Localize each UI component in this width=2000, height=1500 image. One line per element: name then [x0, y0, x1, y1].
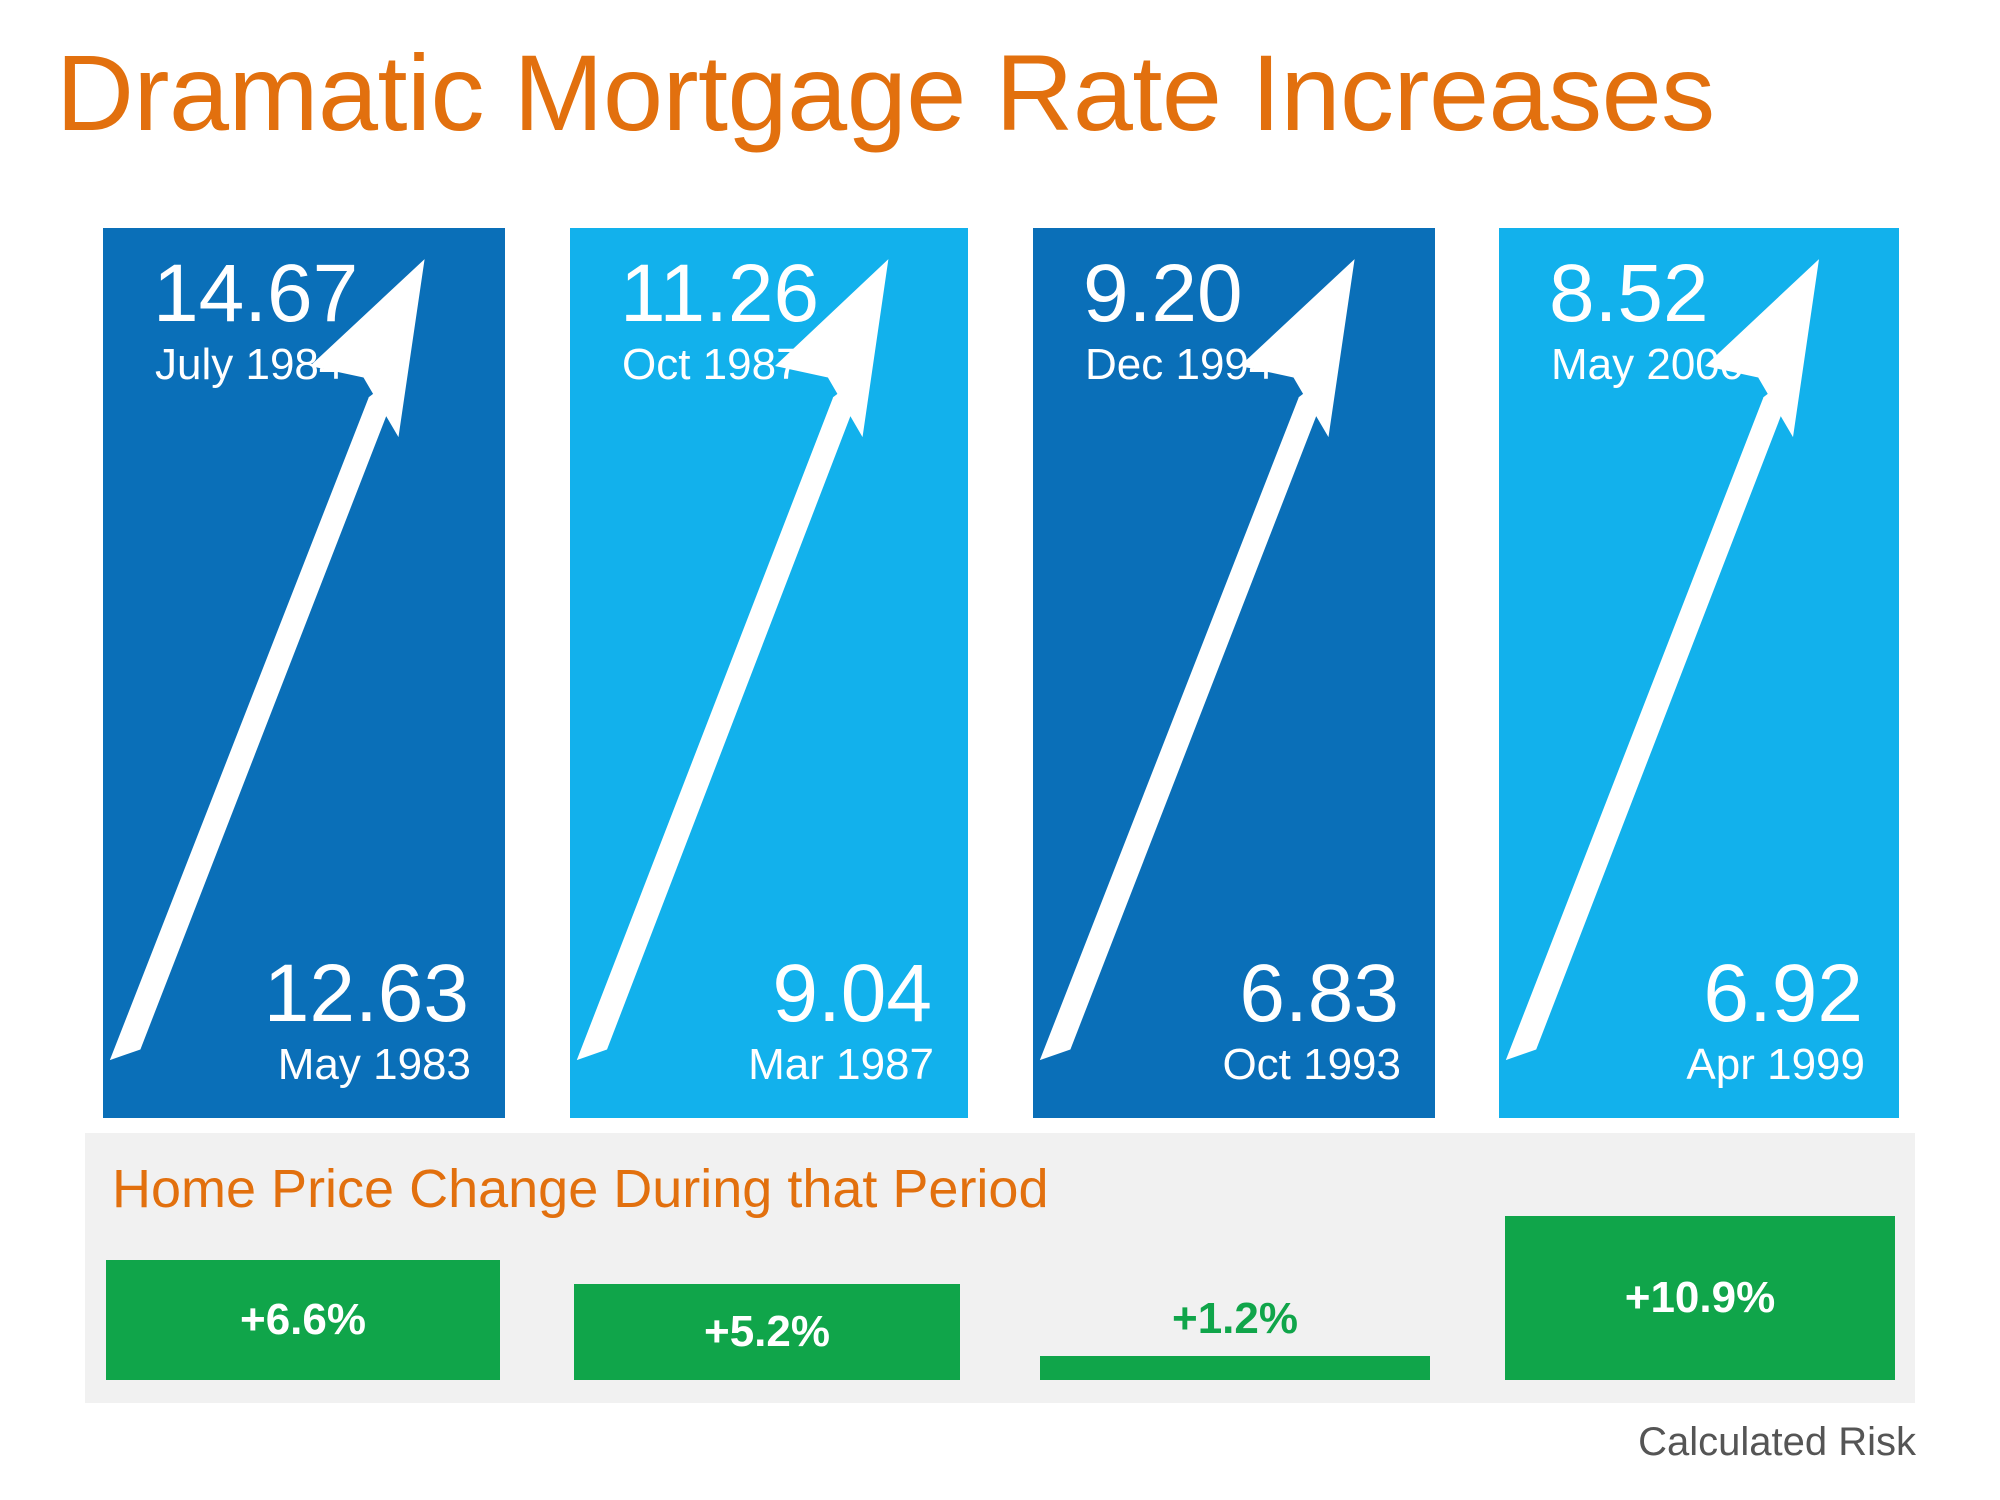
panel-end-rate-group: 8.52May 2000: [1499, 228, 1899, 392]
panel-start-rate-group: 6.83Oct 1993: [1033, 950, 1435, 1092]
panel-end-rate-group: 9.20Dec 1994: [1033, 228, 1435, 392]
price-change-bar-wrap: +1.2%: [1040, 1356, 1430, 1380]
panel-start-rate-group: 12.63May 1983: [103, 950, 505, 1092]
price-change-bar: +6.6%: [106, 1260, 500, 1380]
start-rate-date: Oct 1993: [1033, 1038, 1435, 1092]
page-title: Dramatic Mortgage Rate Increases: [56, 28, 1956, 158]
rate-panel: 8.52May 20006.92Apr 1999: [1499, 228, 1899, 1118]
rate-panels-row: 14.67July 198412.63May 198311.26Oct 1987…: [0, 228, 2000, 1118]
panel-start-rate-group: 9.04Mar 1987: [570, 950, 968, 1092]
rate-panel: 14.67July 198412.63May 1983: [103, 228, 505, 1118]
price-change-bar-wrap: +10.9%: [1505, 1216, 1895, 1380]
panel-start-rate-group: 6.92Apr 1999: [1499, 950, 1899, 1092]
price-change-bar-label: +10.9%: [1505, 1273, 1895, 1323]
price-change-bar-wrap: +5.2%: [574, 1284, 960, 1380]
end-rate-date: Dec 1994: [1033, 338, 1435, 392]
price-change-bar-wrap: +6.6%: [106, 1260, 500, 1380]
start-rate-date: May 1983: [103, 1038, 505, 1092]
price-change-bar-label: +6.6%: [106, 1295, 500, 1345]
rate-panel: 11.26Oct 19879.04Mar 1987: [570, 228, 968, 1118]
panel-end-rate-group: 11.26Oct 1987: [570, 228, 968, 392]
end-rate-value: 11.26: [570, 250, 968, 338]
start-rate-date: Apr 1999: [1499, 1038, 1899, 1092]
home-price-change-bars: +6.6%+5.2%+1.2%+10.9%: [85, 1133, 1915, 1403]
home-price-change-section: Home Price Change During that Period +6.…: [85, 1133, 1915, 1403]
end-rate-date: Oct 1987: [570, 338, 968, 392]
start-rate-value: 9.04: [570, 950, 968, 1038]
end-rate-date: July 1984: [103, 338, 505, 392]
start-rate-date: Mar 1987: [570, 1038, 968, 1092]
price-change-bar-label: +1.2%: [1040, 1294, 1430, 1344]
start-rate-value: 12.63: [103, 950, 505, 1038]
end-rate-value: 9.20: [1033, 250, 1435, 338]
panel-end-rate-group: 14.67July 1984: [103, 228, 505, 392]
start-rate-value: 6.83: [1033, 950, 1435, 1038]
rate-panel: 9.20Dec 19946.83Oct 1993: [1033, 228, 1435, 1118]
end-rate-date: May 2000: [1499, 338, 1899, 392]
end-rate-value: 8.52: [1499, 250, 1899, 338]
price-change-bar: +1.2%: [1040, 1356, 1430, 1380]
end-rate-value: 14.67: [103, 250, 505, 338]
source-credit: Calculated Risk: [1638, 1418, 1916, 1466]
price-change-bar: +5.2%: [574, 1284, 960, 1380]
price-change-bar-label: +5.2%: [574, 1307, 960, 1357]
start-rate-value: 6.92: [1499, 950, 1899, 1038]
price-change-bar: +10.9%: [1505, 1216, 1895, 1380]
